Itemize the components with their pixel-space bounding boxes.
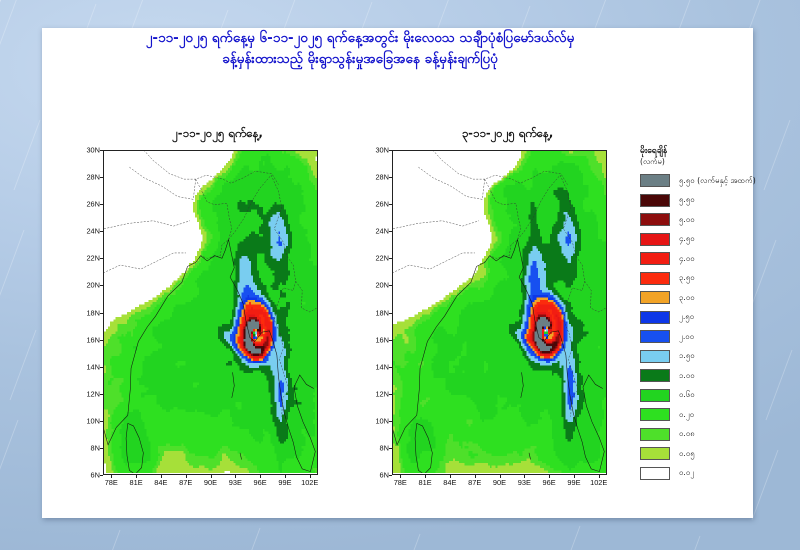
y-axis-tick-label: 24N [86,227,100,236]
legend-swatch [640,330,670,343]
x-axis-tick-label: 102E [590,478,607,487]
y-axis-tick-mark [100,313,103,314]
legend-label: ၀.၀၅ [679,448,695,460]
y-axis-tick-label: 18N [86,308,100,317]
legend-row: ၃.၅၀ [640,269,755,289]
legend-unit: (လက်မ) [640,157,755,168]
x-axis-tick-label: 78E [394,478,407,487]
legend-row: ၂.၀၀ [640,327,755,347]
y-axis-tick-mark [100,177,103,178]
x-axis-tick-mark [211,475,212,478]
legend-row: ၅.၅၀ (လက်မနှင့် အထက်) [640,171,755,191]
y-axis-tick-label: 8N [91,443,100,452]
x-axis-tick-mark [400,475,401,478]
legend-label: ၃.၅၀ [679,272,695,284]
y-axis-tick-mark [100,231,103,232]
y-axis-tick-label: 12N [86,389,100,398]
x-axis-tick-label: 84E [443,478,456,487]
legend-row: ၀.၀၅ [640,444,755,464]
legend-label: ၅.၅၀ [679,194,695,206]
y-axis-tick-mark [100,421,103,422]
legend-swatch [640,252,670,265]
x-axis-tick-mark [186,475,187,478]
legend: မိုးရေချိန် (လက်မ) ၅.၅၀ (လက်မနှင့် အထက်)… [640,146,755,483]
legend-row: ၀.၀၂ [640,464,755,484]
map-canvas-day2 [393,151,606,473]
y-axis-tick-label: 16N [375,335,389,344]
page-title-line-1: ၂-၁၁-၂၀၂၅ ရက်နေ့မှ ၆-၁၁-၂၀၂၅ ရက်နေ့အတွင်… [60,28,660,49]
legend-swatch [640,233,670,246]
x-axis-tick-mark [574,475,575,478]
y-axis-tick-mark [389,394,392,395]
y-axis-tick-label: 16N [86,335,100,344]
map-frame-day2 [392,150,607,475]
x-axis-tick-label: 87E [468,478,481,487]
y-axis-tick-label: 22N [86,254,100,263]
x-axis-tick-label: 102E [301,478,318,487]
y-axis-tick-mark [100,448,103,449]
y-axis-tick-label: 22N [375,254,389,263]
rainfall-raster [393,151,606,473]
legend-swatch [640,408,670,421]
legend-swatch [640,311,670,324]
x-axis-tick-label: 87E [179,478,192,487]
y-axis-tick-mark [389,150,392,151]
y-axis-tick-label: 14N [375,362,389,371]
y-axis-tick-mark [389,448,392,449]
y-axis-tick-label: 20N [375,281,389,290]
y-axis-tick-label: 20N [86,281,100,290]
y-axis-tick-label: 18N [375,308,389,317]
y-axis-tick-mark [389,177,392,178]
x-axis-tick-label: 90E [493,478,506,487]
y-axis-tick-mark [100,367,103,368]
legend-swatch [640,272,670,285]
y-axis-tick-label: 6N [91,471,100,480]
x-axis-tick-mark [475,475,476,478]
rainfall-map-day1: 30N28N26N24N22N20N18N16N14N12N10N8N6N78E… [103,150,318,475]
x-axis-tick-mark [260,475,261,478]
legend-label: ၅.၀၀ [679,214,695,226]
x-axis-tick-mark [235,475,236,478]
x-axis-tick-label: 84E [154,478,167,487]
legend-label: ၅.၅၀ (လက်မနှင့် အထက်) [679,175,756,187]
map-canvas-day1 [104,151,317,473]
legend-row: ၀.၆၀ [640,386,755,406]
legend-row: ၀.၂၀ [640,405,755,425]
x-axis-tick-label: 81E [129,478,142,487]
legend-swatch [640,467,670,480]
panel-subtitle-day1: ၂-၁၁-၂၀၂၅ ရက်နေ့, [95,126,340,143]
legend-swatch [640,213,670,226]
y-axis-tick-mark [100,285,103,286]
legend-label: ၄.၅၀ [679,233,695,245]
y-axis-tick-label: 26N [86,200,100,209]
x-axis-tick-mark [500,475,501,478]
x-axis-tick-mark [549,475,550,478]
y-axis-tick-label: 6N [380,471,389,480]
map-frame-day1 [103,150,318,475]
page-title: ၂-၁၁-၂၀၂၅ ရက်နေ့မှ ၆-၁၁-၂၀၂၅ ရက်နေ့အတွင်… [60,28,660,70]
legend-label: ၀.၂၀ [679,409,694,421]
y-axis-tick-label: 8N [380,443,389,452]
legend-row: ၀.၀၈ [640,425,755,445]
panel-subtitle-day2: ၃-၁၁-၂၀၂၅ ရက်နေ့, [385,126,630,143]
y-axis-tick-mark [100,340,103,341]
legend-label: ၀.၀၈ [679,428,695,440]
legend-row: ၂.၅၀ [640,308,755,328]
y-axis-tick-mark [100,394,103,395]
x-axis-tick-mark [285,475,286,478]
x-axis-tick-mark [450,475,451,478]
legend-swatch [640,291,670,304]
page-title-line-2: ခန့်မှန်းထားသည့် မိုးရွာသွန်းမှုအခြေအနေ … [60,49,660,70]
legend-label: ၁.၀၀ [679,370,695,382]
legend-label: ၀.၆၀ [679,389,695,401]
legend-swatch [640,428,670,441]
y-axis-tick-mark [100,150,103,151]
legend-title: မိုးရေချိန် [640,146,755,157]
x-axis-tick-label: 78E [105,478,118,487]
legend-label: ၂.၅၀ [679,311,694,323]
legend-row: ၅.၀၀ [640,210,755,230]
y-axis-tick-mark [389,421,392,422]
y-axis-tick-mark [100,204,103,205]
y-axis-tick-label: 10N [375,416,389,425]
y-axis-tick-mark [389,340,392,341]
legend-label: ၀.၀၂ [679,467,694,479]
legend-label: ၄.၀၀ [679,253,695,265]
y-axis-tick-mark [389,204,392,205]
y-axis-tick-label: 30N [86,146,100,155]
x-axis-tick-mark [599,475,600,478]
y-axis-tick-label: 24N [375,227,389,236]
x-axis-tick-label: 93E [518,478,531,487]
x-axis-tick-mark [524,475,525,478]
y-axis-tick-label: 26N [375,200,389,209]
legend-row: ၄.၅၀ [640,230,755,250]
y-axis-tick-mark [389,367,392,368]
legend-row: ၄.၀၀ [640,249,755,269]
y-axis-tick-mark [389,285,392,286]
legend-swatch [640,350,670,363]
x-axis-tick-label: 96E [254,478,267,487]
y-axis-tick-mark [389,313,392,314]
legend-row: ၁.၀၀ [640,366,755,386]
y-axis-tick-label: 12N [375,389,389,398]
y-axis-tick-label: 10N [86,416,100,425]
x-axis-tick-label: 81E [418,478,431,487]
y-axis-tick-mark [389,258,392,259]
x-axis-tick-label: 99E [278,478,291,487]
x-axis-tick-label: 90E [204,478,217,487]
legend-swatch [640,174,670,187]
legend-row: ၃.၀၀ [640,288,755,308]
legend-swatch [640,369,670,382]
x-axis-tick-label: 93E [229,478,242,487]
x-axis-tick-label: 99E [567,478,580,487]
x-axis-tick-mark [111,475,112,478]
legend-swatch [640,447,670,460]
y-axis-tick-mark [389,475,392,476]
x-axis-tick-mark [136,475,137,478]
x-axis-tick-label: 96E [543,478,556,487]
y-axis-tick-mark [389,231,392,232]
legend-label: ၁.၅၀ [679,350,695,362]
legend-label: ၂.၀၀ [679,331,694,343]
y-axis-tick-label: 30N [375,146,389,155]
rainfall-raster [104,151,317,473]
x-axis-tick-mark [425,475,426,478]
legend-row: ၅.၅၀ [640,191,755,211]
y-axis-tick-label: 28N [86,173,100,182]
rainfall-map-day2: 30N28N26N24N22N20N18N16N14N12N10N8N6N78E… [392,150,607,475]
y-axis-tick-label: 14N [86,362,100,371]
legend-rows: ၅.၅၀ (လက်မနှင့် အထက်)၅.၅၀၅.၀၀၄.၅၀၄.၀၀၃.၅… [640,171,755,483]
y-axis-tick-mark [100,258,103,259]
y-axis-tick-mark [100,475,103,476]
slide-background: ၂-၁၁-၂၀၂၅ ရက်နေ့မှ ၆-၁၁-၂၀၂၅ ရက်နေ့အတွင်… [0,0,800,550]
legend-swatch [640,389,670,402]
legend-label: ၃.၀၀ [679,292,695,304]
x-axis-tick-mark [310,475,311,478]
legend-row: ၁.၅၀ [640,347,755,367]
y-axis-tick-label: 28N [375,173,389,182]
x-axis-tick-mark [161,475,162,478]
legend-swatch [640,194,670,207]
